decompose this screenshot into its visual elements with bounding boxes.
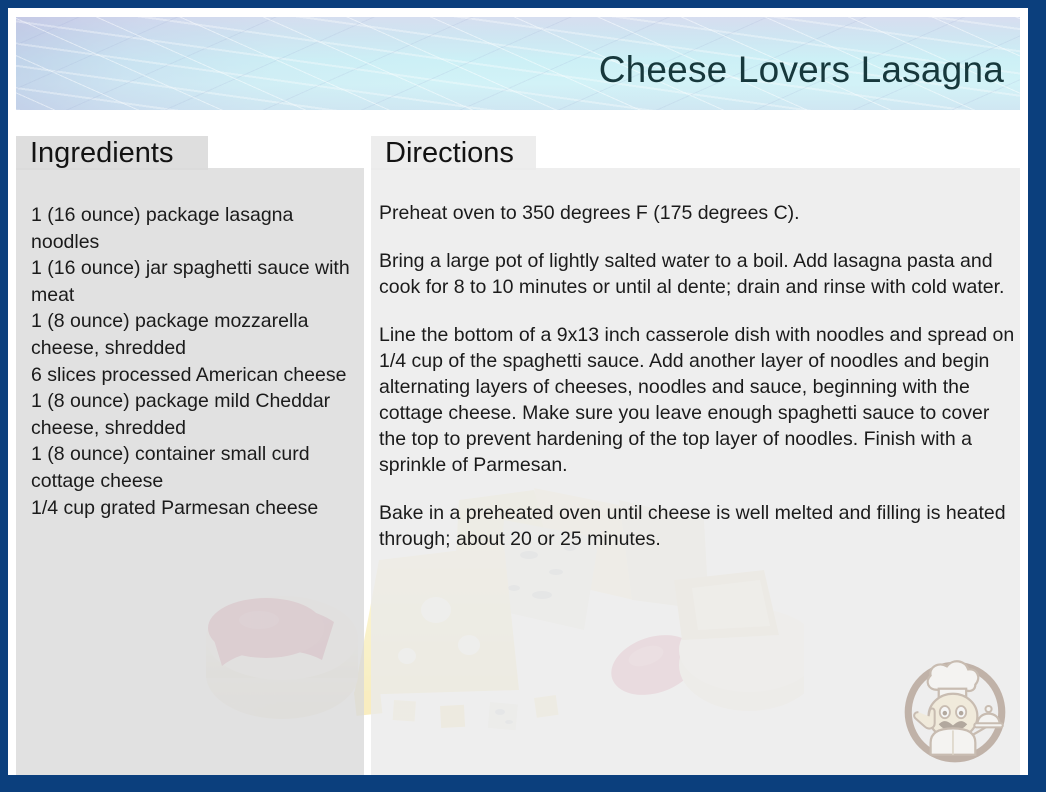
- list-item: 1 (16 ounce) jar spaghetti sauce with me…: [31, 255, 361, 308]
- list-item: 6 slices processed American cheese: [31, 362, 361, 389]
- recipe-page: Cheese Lovers Lasagna Ingredients 1 (16 …: [8, 8, 1028, 775]
- direction-step: Bake in a preheated oven until cheese is…: [379, 500, 1019, 552]
- direction-step: Preheat oven to 350 degrees F (175 degre…: [379, 200, 1019, 226]
- tab-directions[interactable]: Directions: [371, 136, 536, 170]
- directions-steps: Preheat oven to 350 degrees F (175 degre…: [379, 200, 1019, 552]
- list-item: 1 (8 ounce) package mozzarella cheese, s…: [31, 308, 361, 361]
- tab-ingredients-label: Ingredients: [30, 134, 174, 172]
- direction-step: Bring a large pot of lightly salted wate…: [379, 248, 1019, 300]
- recipe-card: Cheese Lovers Lasagna Ingredients 1 (16 …: [0, 0, 1046, 792]
- ingredients-list: 1 (16 ounce) package lasagna noodles 1 (…: [31, 202, 361, 521]
- list-item: 1 (8 ounce) container small curd cottage…: [31, 441, 361, 494]
- tab-ingredients[interactable]: Ingredients: [16, 136, 208, 170]
- ingredients-panel: 1 (16 ounce) package lasagna noodles 1 (…: [16, 168, 364, 775]
- tab-directions-label: Directions: [385, 134, 514, 172]
- page-title: Cheese Lovers Lasagna: [599, 48, 1004, 92]
- list-item: 1 (16 ounce) package lasagna noodles: [31, 202, 361, 255]
- chef-logo-icon: [894, 645, 1016, 767]
- list-item: 1 (8 ounce) package mild Cheddar cheese,…: [31, 388, 361, 441]
- list-item: 1/4 cup grated Parmesan cheese: [31, 495, 361, 522]
- direction-step: Line the bottom of a 9x13 inch casserole…: [379, 322, 1019, 478]
